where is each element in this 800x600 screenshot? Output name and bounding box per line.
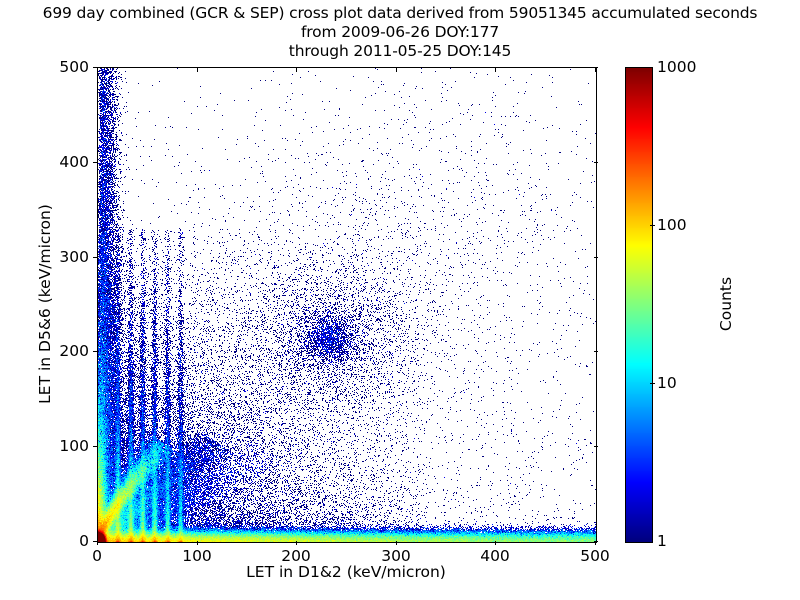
x-tick-mark bbox=[495, 541, 496, 545]
x-tick-mark bbox=[396, 541, 397, 545]
y-tick-mark-right bbox=[594, 351, 598, 352]
y-tick-mark bbox=[93, 446, 97, 447]
y-tick-mark bbox=[93, 351, 97, 352]
colorbar-label: Counts bbox=[717, 67, 735, 541]
plot-title: 699 day combined (GCR & SEP) cross plot … bbox=[0, 4, 800, 61]
colorbar-tick-mark bbox=[650, 383, 655, 384]
y-tick-mark-right bbox=[594, 446, 598, 447]
x-tick-mark bbox=[97, 541, 98, 545]
x-axis-label: LET in D1&2 (keV/micron) bbox=[97, 563, 595, 581]
density-heatmap bbox=[98, 68, 596, 542]
colorbar-tick-label-1: 1 bbox=[657, 532, 667, 550]
y-tick-mark-right bbox=[594, 257, 598, 258]
x-tick-mark-top bbox=[595, 68, 596, 72]
y-tick-mark-right bbox=[594, 67, 598, 68]
y-tick-mark-right bbox=[594, 162, 598, 163]
title-line-2: from 2009-06-26 DOY:177 bbox=[0, 23, 800, 42]
title-line-1: 699 day combined (GCR & SEP) cross plot … bbox=[0, 4, 800, 23]
y-tick-mark bbox=[93, 257, 97, 258]
y-tick-mark bbox=[93, 67, 97, 68]
colorbar-tick-mark bbox=[650, 225, 655, 226]
plot-axes-frame bbox=[97, 67, 597, 543]
x-tick-mark-top bbox=[97, 68, 98, 72]
y-tick-mark bbox=[93, 162, 97, 163]
colorbar-tick-label-10: 10 bbox=[657, 374, 677, 392]
x-tick-mark bbox=[197, 541, 198, 545]
colorbar bbox=[625, 67, 653, 543]
x-tick-mark-top bbox=[495, 68, 496, 72]
colorbar-gradient bbox=[626, 68, 652, 542]
x-tick-mark bbox=[296, 541, 297, 545]
y-tick-mark-right bbox=[594, 541, 598, 542]
x-tick-mark-top bbox=[197, 68, 198, 72]
colorbar-tick-label-100: 100 bbox=[657, 216, 687, 234]
y-tick-mark bbox=[93, 541, 97, 542]
figure-canvas: 699 day combined (GCR & SEP) cross plot … bbox=[0, 0, 800, 600]
colorbar-tick-label-1000: 1000 bbox=[657, 58, 696, 76]
x-tick-mark-top bbox=[296, 68, 297, 72]
y-axis-label: LET in D5&6 (keV/micron) bbox=[36, 67, 54, 541]
x-tick-mark-top bbox=[396, 68, 397, 72]
